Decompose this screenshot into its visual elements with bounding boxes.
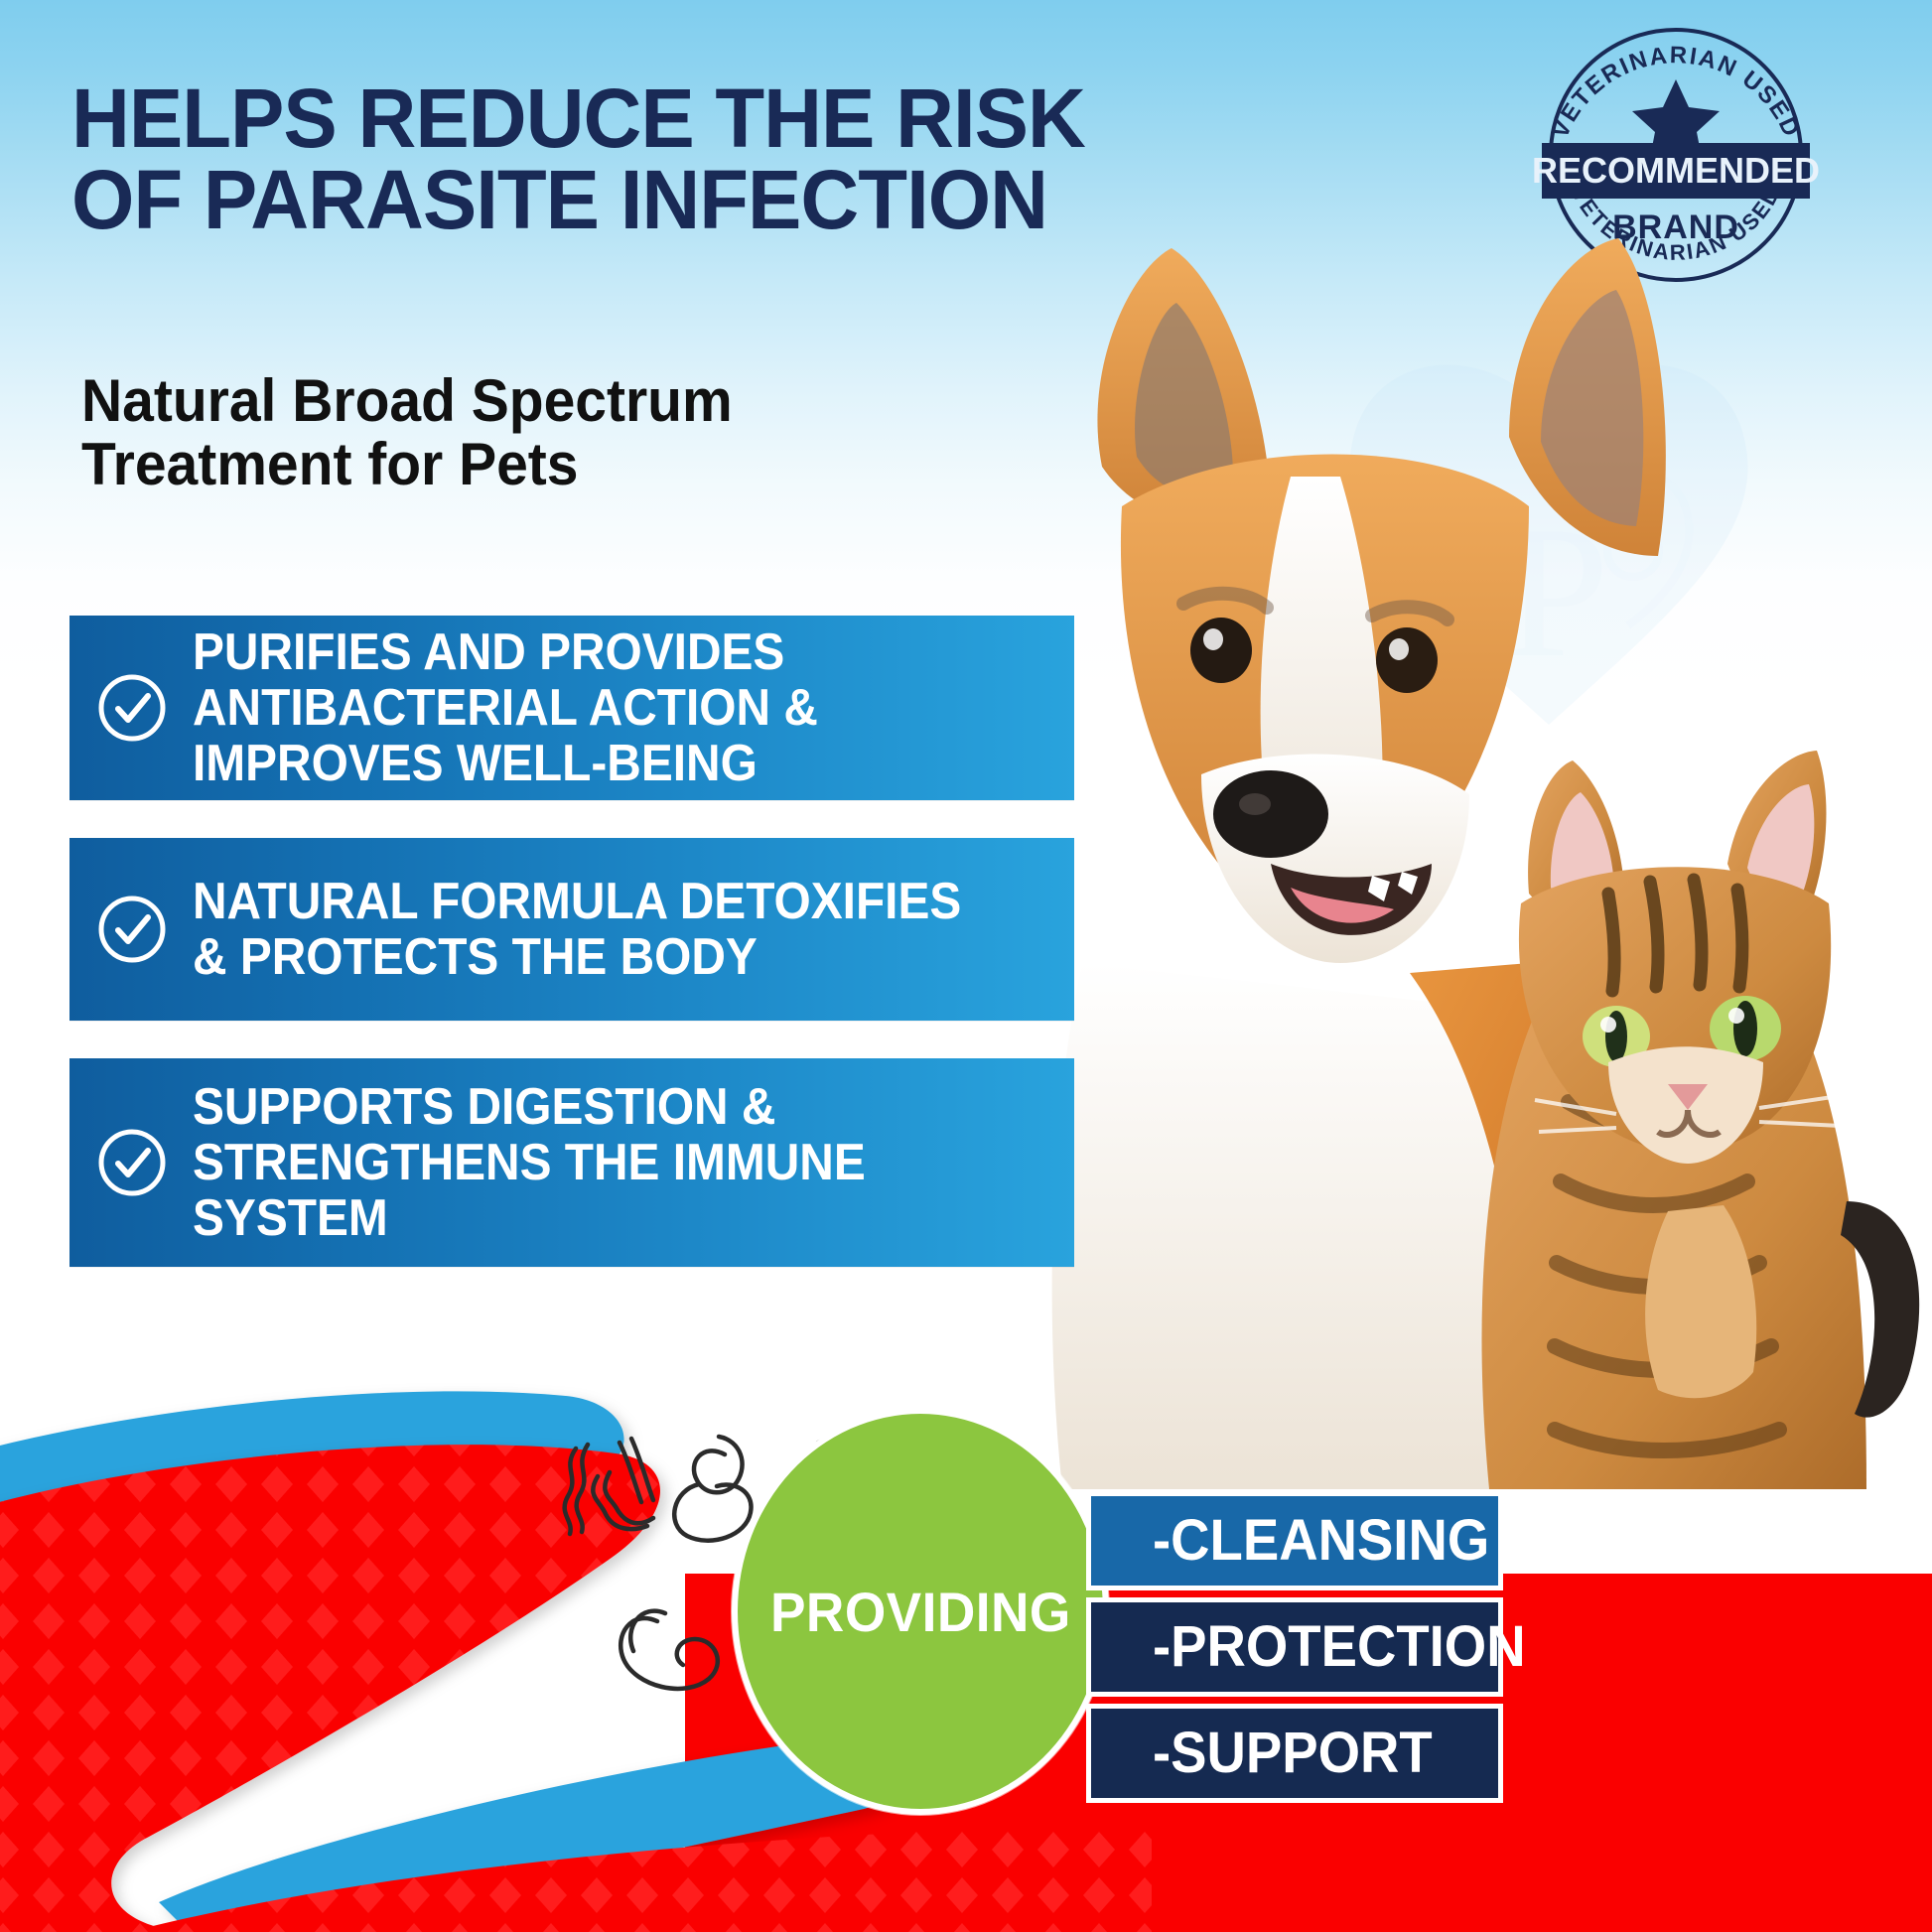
hookworm-icon — [621, 1611, 718, 1689]
benefit-row-2: NATURAL FORMULA DETOXIFIES & PROTECTS TH… — [69, 838, 1074, 1021]
benefit-row-1: PURIFIES AND PROVIDES ANTIBACTERIAL ACTI… — [69, 616, 1074, 800]
roundworm-icon — [565, 1439, 653, 1534]
benefits-list: PURIFIES AND PROVIDES ANTIBACTERIAL ACTI… — [69, 616, 1074, 1305]
benefit-row-3: SUPPORTS DIGESTION & STRENGTHENS THE IMM… — [69, 1058, 1074, 1267]
check-circle-icon — [95, 671, 169, 745]
poster-canvas: P HELPS REDUCE THE RISK OF PARASITE INFE… — [0, 0, 1932, 1932]
pets-photo — [973, 208, 1932, 1509]
benefit-text-2: NATURAL FORMULA DETOXIFIES & PROTECTS TH… — [193, 874, 961, 985]
providing-bar-protection: -PROTECTION — [1086, 1597, 1503, 1697]
vet-badge-banner: RECOMMENDED — [1532, 150, 1820, 191]
headline-line-1: HELPS REDUCE THE RISK — [71, 71, 1085, 165]
check-circle-icon — [95, 893, 169, 966]
providing-bar-support: -SUPPORT — [1086, 1704, 1503, 1803]
providing-bar-cleansing: -CLEANSING — [1086, 1491, 1503, 1590]
tapeworm-icon — [674, 1437, 751, 1541]
subhead-line-1: Natural Broad Spectrum — [81, 367, 733, 434]
bengal-kitten-photo — [1482, 751, 1920, 1489]
providing-bar-label-cleansing: -CLEANSING — [1153, 1512, 1489, 1570]
providing-label: PROVIDING — [770, 1580, 1071, 1644]
benefit-text-1: PURIFIES AND PROVIDES ANTIBACTERIAL ACTI… — [193, 624, 818, 791]
benefit-text-3: SUPPORTS DIGESTION & STRENGTHENS THE IMM… — [193, 1079, 866, 1246]
check-circle-icon — [95, 1126, 169, 1199]
providing-bars-list: -CLEANSING -PROTECTION -SUPPORT — [1086, 1491, 1503, 1810]
page-subtitle: Natural Broad Spectrum Treatment for Pet… — [81, 369, 987, 495]
providing-bar-label-protection: -PROTECTION — [1153, 1618, 1526, 1676]
providing-circle: PROVIDING — [732, 1408, 1109, 1815]
subhead-line-2: Treatment for Pets — [81, 433, 987, 496]
providing-bar-label-support: -SUPPORT — [1153, 1725, 1433, 1782]
